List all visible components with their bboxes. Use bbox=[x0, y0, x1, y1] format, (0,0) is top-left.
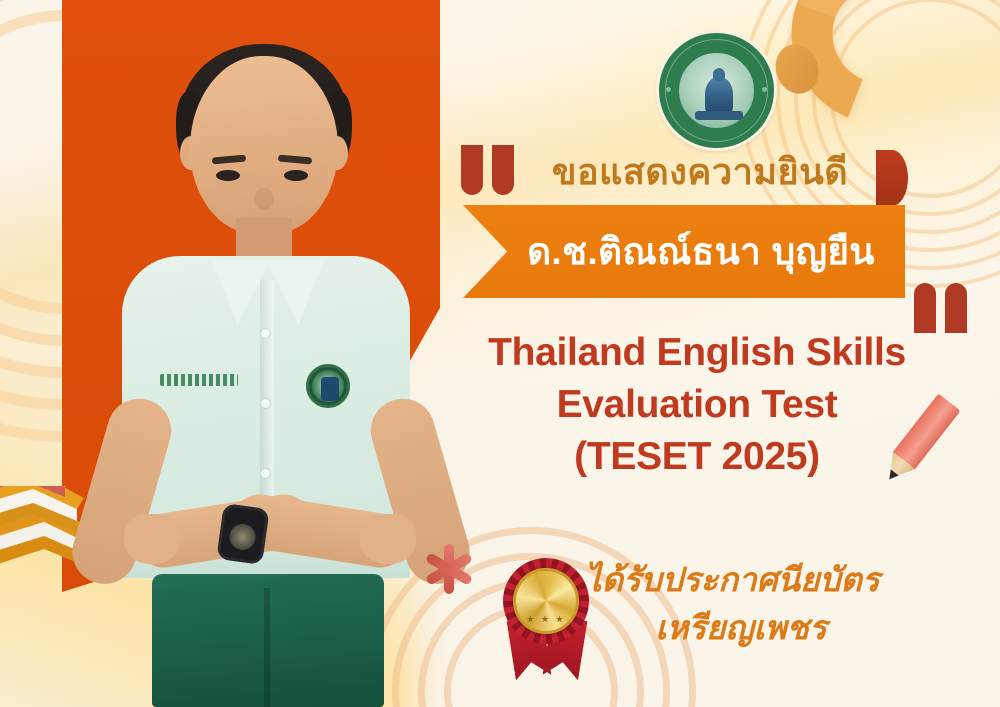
student-name-text: ด.ช.ติณณ์ธนา บุญยืน bbox=[463, 205, 905, 298]
school-seal-logo bbox=[659, 33, 774, 148]
student-hand-right bbox=[360, 514, 416, 564]
award-result-text: ได้รับประกาศนียบัตร เหรียญเพชร bbox=[585, 556, 945, 652]
student-hand-left bbox=[124, 514, 180, 564]
student-shirt-button bbox=[260, 468, 271, 479]
seal-pedestal bbox=[695, 111, 743, 120]
student-shirt-button bbox=[260, 328, 271, 339]
student-shorts bbox=[152, 574, 384, 707]
quote-close-icon bbox=[914, 283, 967, 333]
student-photo bbox=[108, 28, 438, 707]
award-title-line-1: Thailand English Skills bbox=[452, 327, 942, 379]
ganesha-figure-icon bbox=[705, 77, 733, 115]
congratulations-poster: ขอแสดงความยินดี ด.ช.ติณณ์ธนา บุญยืน Thai… bbox=[0, 0, 1000, 707]
award-result-line-2: เหรียญเพชร bbox=[585, 604, 945, 652]
student-eye-right bbox=[284, 170, 308, 181]
award-title: Thailand English Skills Evaluation Test … bbox=[452, 327, 942, 483]
school-badge-patch bbox=[306, 364, 350, 408]
student-nose bbox=[254, 188, 274, 210]
asterisk-icon bbox=[420, 540, 478, 598]
wristwatch-icon bbox=[216, 503, 269, 565]
award-result-line-1: ได้รับประกาศนียบัตร bbox=[585, 556, 945, 604]
seal-inner-disc bbox=[677, 51, 756, 130]
banner-end-tab bbox=[876, 150, 908, 206]
student-eye-left bbox=[216, 170, 240, 181]
award-title-line-2: Evaluation Test bbox=[452, 379, 942, 431]
seal-dot-right bbox=[762, 87, 767, 92]
student-shirt-button bbox=[260, 398, 271, 409]
congratulations-text: ขอแสดงความยินดี bbox=[470, 152, 930, 192]
student-name-embroidery bbox=[160, 374, 238, 386]
seal-dot-left bbox=[666, 87, 671, 92]
award-title-line-3: (TESET 2025) bbox=[452, 431, 942, 483]
medal-stars: ★ ★ ★ bbox=[525, 614, 567, 625]
